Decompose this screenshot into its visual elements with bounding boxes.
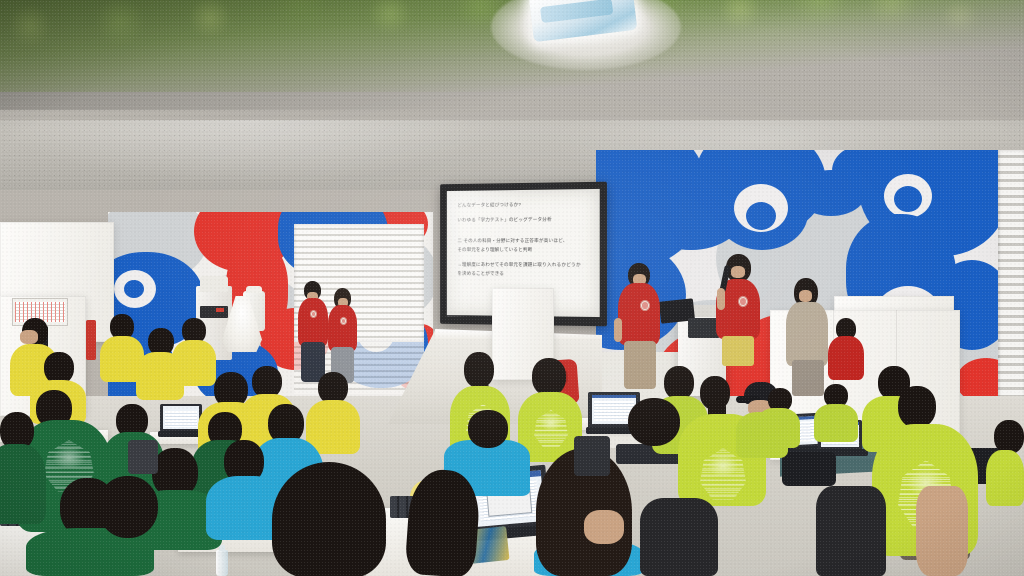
- torso-yellow-shirt: [172, 340, 216, 386]
- face: [799, 290, 812, 302]
- dispenser-indicator: [216, 308, 224, 312]
- laptop-lid: [160, 404, 202, 432]
- chair: [574, 436, 610, 476]
- torso-yellow-shirt: [306, 400, 360, 454]
- shirt-chest-logo: [640, 300, 650, 311]
- hand: [584, 510, 624, 544]
- mural-eye-pupil: [746, 202, 776, 230]
- torso-green-shirt: [0, 444, 46, 524]
- head: [98, 476, 158, 538]
- backpack: [782, 452, 836, 486]
- shirt-chest-logo: [310, 310, 317, 318]
- head: [532, 358, 566, 396]
- torso-dark: [640, 498, 718, 576]
- torso-lime-shirt: [756, 408, 800, 448]
- torso-red-shirt: [328, 305, 357, 351]
- arm: [717, 288, 725, 310]
- skylight: [525, 0, 649, 56]
- mural-eye-pupil: [894, 186, 922, 212]
- presentation-hall-photo: どんなデータと結びつけるか? いわゆる「学力テスト」のビッグデータ分析 二 その…: [0, 0, 1024, 576]
- mural-eye-pupil: [124, 280, 144, 298]
- shirt-chest-logo: [340, 317, 347, 325]
- face: [731, 266, 745, 278]
- torso-red-shirt: [828, 336, 864, 380]
- head: [898, 386, 936, 428]
- beverage-urn-lid: [246, 286, 262, 293]
- torso-lime-shirt: [814, 404, 858, 442]
- face: [20, 330, 38, 344]
- torso-lime-shirt: [986, 450, 1024, 506]
- head: [664, 366, 694, 400]
- chair: [128, 440, 158, 474]
- shirt-chest-logo: [738, 296, 748, 307]
- head: [468, 410, 508, 448]
- torso-shawl: [786, 302, 828, 366]
- red-pole: [86, 320, 96, 360]
- water-bottle: [216, 550, 228, 576]
- head: [994, 420, 1024, 454]
- water-dispenser-top: [200, 276, 228, 292]
- torso-red-shirt: [618, 283, 660, 345]
- arm: [614, 318, 622, 342]
- legs: [624, 341, 656, 389]
- torso-dark: [816, 486, 886, 576]
- laptop-screen: [163, 406, 199, 429]
- torso-red-shirt: [298, 298, 328, 346]
- leg: [916, 486, 968, 576]
- legs: [792, 360, 824, 396]
- head: [272, 462, 386, 576]
- legs: [722, 336, 754, 366]
- head: [628, 398, 680, 446]
